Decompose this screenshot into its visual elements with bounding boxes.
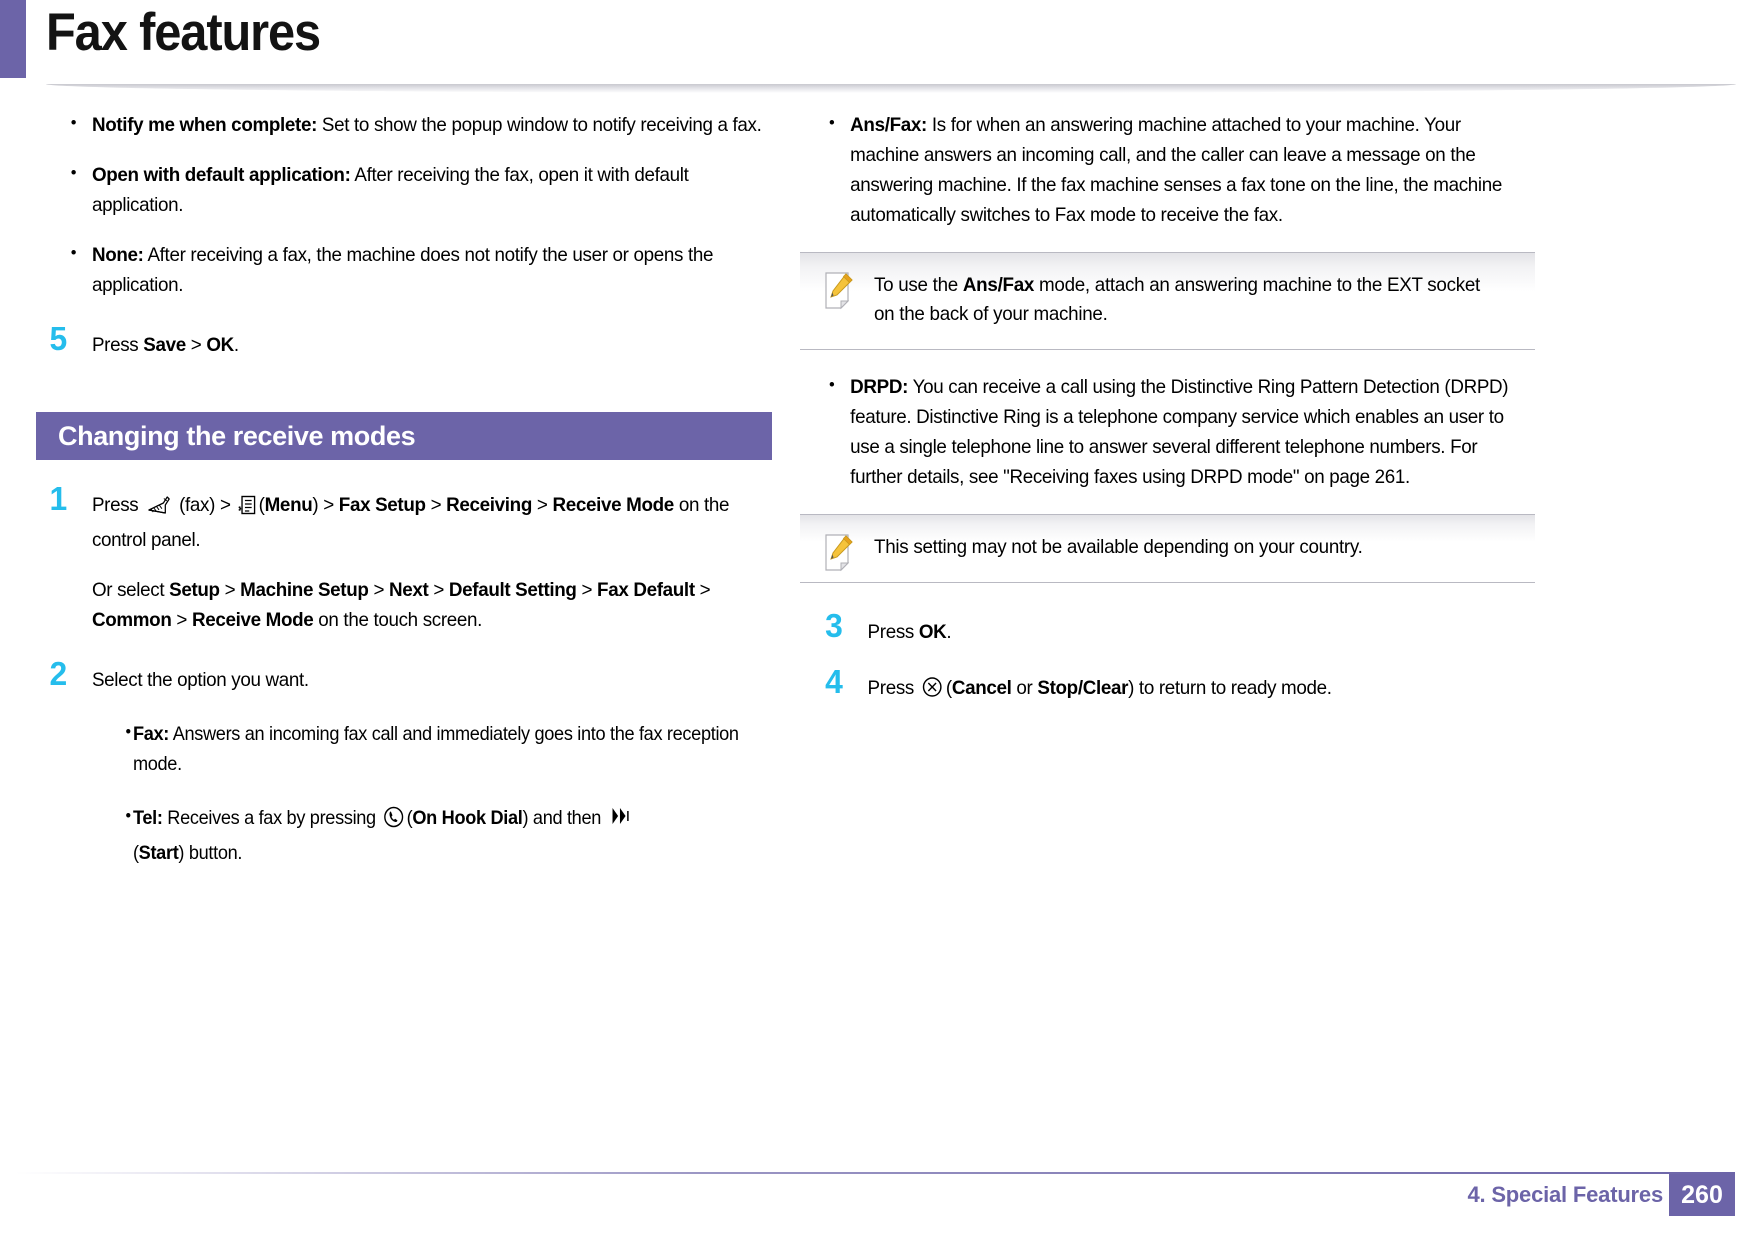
list-item: Fax: Answers an incoming fax call and im… (92, 719, 746, 779)
step-number: 5 (50, 324, 67, 354)
bullet-label: Open with default application: (92, 164, 351, 186)
step3-pre: Press (868, 621, 919, 643)
page-title: Fax features (46, 2, 320, 63)
alt-path-machine-setup: Machine Setup (240, 579, 368, 601)
bullet-text-post: button. (184, 842, 242, 864)
step-text-post: . (234, 334, 239, 356)
path-receive-mode: Receive Mode (552, 494, 673, 516)
note-pencil-icon (822, 271, 856, 311)
bullet-label: None: (92, 244, 144, 266)
page-footer: 4. Special Features 260 (0, 1174, 1755, 1214)
header-divider (46, 84, 1736, 93)
note-text: This setting may not be available depend… (874, 533, 1502, 562)
start-label: Start (139, 842, 179, 864)
bullet-text: Set to show the popup window to notify r… (317, 114, 761, 136)
step3-post: . (946, 621, 951, 643)
bullet-text-mid: and then (528, 807, 606, 829)
alt-pre: Or select (92, 579, 169, 601)
alt-path-fax-default: Fax Default (597, 579, 695, 601)
alt-tail: on the touch screen. (313, 609, 482, 631)
step-1: 1 Press (fax) > (36, 490, 769, 635)
list-item: Notify me when complete: Set to show the… (36, 110, 769, 140)
step-4: 4 Press (Cancel or Stop/Clear) to return… (800, 673, 1533, 708)
step-3: 3 Press OK. (800, 617, 1533, 647)
header-accent-bar (0, 0, 26, 78)
content-columns: Notify me when complete: Set to show the… (0, 110, 1755, 1010)
step-number: 3 (825, 611, 842, 641)
list-item: None: After receiving a fax, the machine… (36, 240, 769, 300)
step4-bold-cancel: Cancel (952, 677, 1012, 699)
list-item: DRPD: You can receive a call using the D… (800, 372, 1533, 492)
step-sep: > (186, 334, 206, 356)
step-text-pre: Press (92, 334, 143, 356)
step4-pre: Press (868, 677, 919, 699)
note-box-ansfax: To use the Ans/Fax mode, attach an answe… (800, 252, 1535, 350)
step-bold-save: Save (143, 334, 186, 356)
fax-label: (fax) (179, 494, 215, 516)
step-5: 5 Press Save > OK. (36, 330, 769, 360)
step-2: 2 Select the option you want. Fax: Answe… (36, 665, 769, 868)
menu-icon (237, 494, 256, 525)
bullet-label-ansfax: Ans/Fax: (850, 114, 927, 136)
note-pencil-icon (822, 533, 856, 573)
onhook-label: On Hook Dial (412, 807, 522, 829)
on-hook-dial-icon (382, 805, 404, 838)
note-pre: To use the (874, 274, 963, 296)
separator-gt: > (220, 494, 231, 516)
page-header: Fax features (0, 0, 1755, 96)
alt-path-setup: Setup (169, 579, 220, 601)
section-title: Changing the receive modes (36, 421, 415, 452)
bullet-label: Notify me when complete: (92, 114, 317, 136)
footer-divider (15, 1172, 1735, 1174)
step4-post: to return to ready mode. (1134, 677, 1332, 699)
bullet-text: Answers an incoming fax call and immedia… (133, 723, 739, 775)
step2-text: Select the option you want. (92, 669, 309, 691)
step4-bold-stopclear: Stop/Clear (1037, 677, 1128, 699)
bullet-text: You can receive a call using the Distinc… (850, 376, 1508, 488)
alt-path-next: Next (389, 579, 428, 601)
page-number-badge: 260 (1669, 1174, 1735, 1216)
list-item: Ans/Fax: Is for when an answering machin… (800, 110, 1533, 230)
note-text: To use the Ans/Fax mode, attach an answe… (874, 271, 1502, 329)
footer-section-label: 4. Special Features (1467, 1182, 1663, 1208)
document-page: Fax features Notify me when complete: Se… (0, 0, 1755, 1240)
right-column: Ans/Fax: Is for when an answering machin… (800, 110, 1560, 726)
alt-path-receive-mode: Receive Mode (192, 609, 313, 631)
list-item: Open with default application: After rec… (36, 160, 769, 220)
menu-paren-close: ) (312, 494, 318, 516)
start-icon (608, 803, 632, 838)
step3-bold-ok: OK (919, 621, 947, 643)
step-text-press: Press (92, 494, 138, 516)
left-column: Notify me when complete: Set to show the… (36, 110, 796, 888)
step-bold-ok: OK (206, 334, 234, 356)
alt-path-common: Common (92, 609, 172, 631)
path-fax-setup: Fax Setup (339, 494, 426, 516)
bullet-text-pre: Receives a fax by pressing (163, 807, 381, 829)
bullet-text: After receiving a fax, the machine does … (92, 244, 713, 296)
path-receiving: Receiving (446, 494, 532, 516)
separator-gt: > (323, 494, 334, 516)
step-1-alternate: Or select Setup > Machine Setup > Next >… (92, 575, 769, 635)
step-number: 4 (825, 667, 842, 697)
cancel-icon (921, 675, 944, 708)
bullet-label-fax: Fax: (133, 723, 169, 745)
bullet-text: Is for when an answering machine attache… (850, 114, 1502, 226)
separator-gt: > (431, 494, 442, 516)
section-header-bar: Changing the receive modes (36, 412, 772, 460)
list-item: Tel: Receives a fax by pressing (On Hook… (92, 803, 746, 868)
bullet-label-drpd: DRPD: (850, 376, 908, 398)
fax-icon (145, 494, 172, 525)
note-box-country: This setting may not be available depend… (800, 514, 1535, 583)
step4-or: or (1012, 677, 1038, 699)
separator-gt: > (537, 494, 548, 516)
note-bold-ansfax: Ans/Fax (963, 274, 1034, 296)
bullet-label-tel: Tel: (133, 807, 163, 829)
step-number: 1 (50, 484, 67, 514)
step-number: 2 (50, 659, 67, 689)
alt-path-default-setting: Default Setting (449, 579, 577, 601)
menu-label: Menu (265, 494, 313, 516)
